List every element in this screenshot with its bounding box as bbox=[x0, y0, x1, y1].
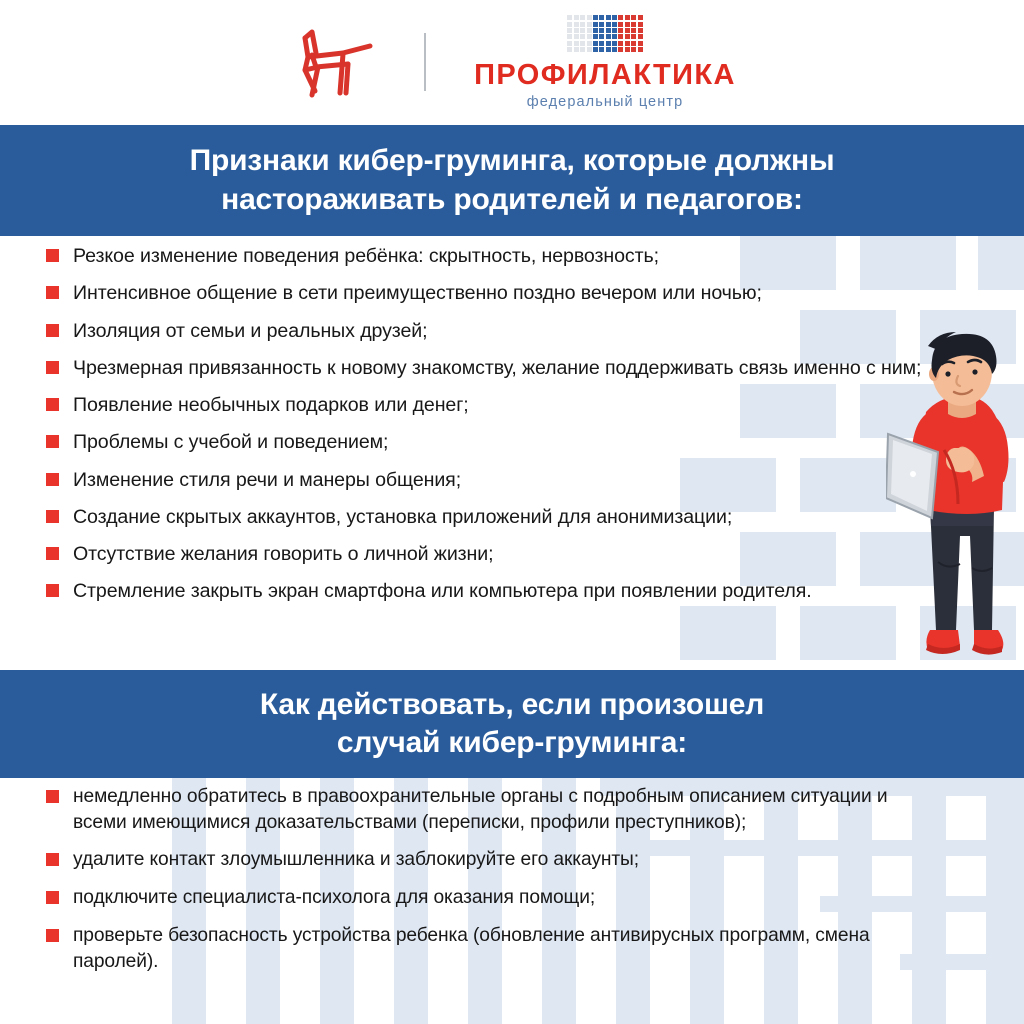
list-item-text: проверьте безопасность устройства ребенк… bbox=[73, 923, 936, 974]
list-item-text: Стремление закрыть экран смартфона или к… bbox=[73, 578, 812, 604]
bullet-square-icon bbox=[46, 929, 59, 942]
bullet-square-icon bbox=[46, 790, 59, 803]
list-item: Резкое изменение поведения ребёнка: скры… bbox=[46, 243, 926, 269]
list-item: удалите контакт злоумышленника и заблоки… bbox=[46, 847, 936, 873]
bullet-square-icon bbox=[46, 891, 59, 904]
man-with-tablet-icon bbox=[886, 330, 1024, 682]
bullet-square-icon bbox=[46, 398, 59, 411]
section2-heading-banner: Как действовать, если произошел случай к… bbox=[0, 670, 1024, 778]
header-logo-bar: ПРОФИЛАКТИКА федеральный центр bbox=[0, 0, 1024, 125]
list-item-text: Появление необычных подарков или денег; bbox=[73, 392, 469, 418]
bullet-square-icon bbox=[46, 249, 59, 262]
bullet-square-icon bbox=[46, 584, 59, 597]
bullet-square-icon bbox=[46, 853, 59, 866]
bullet-square-icon bbox=[46, 547, 59, 560]
chair-line-icon bbox=[288, 23, 380, 101]
section1-list: Резкое изменение поведения ребёнка: скры… bbox=[46, 243, 926, 616]
list-item: Отсутствие желания говорить о личной жиз… bbox=[46, 541, 926, 567]
logo-divider bbox=[424, 33, 426, 91]
list-item-text: Чрезмерная привязанность к новому знаком… bbox=[73, 355, 921, 381]
brand-subtitle: федеральный центр bbox=[527, 95, 684, 110]
list-item: Интенсивное общение в сети преимуществен… bbox=[46, 280, 926, 306]
brand-block: ПРОФИЛАКТИКА федеральный центр bbox=[474, 15, 736, 109]
list-item: Создание скрытых аккаунтов, установка пр… bbox=[46, 504, 926, 530]
list-item-text: удалите контакт злоумышленника и заблоки… bbox=[73, 847, 639, 873]
list-item: проверьте безопасность устройства ребенк… bbox=[46, 923, 936, 974]
list-item: Появление необычных подарков или денег; bbox=[46, 392, 926, 418]
list-item: Изменение стиля речи и манеры общения; bbox=[46, 467, 926, 493]
bullet-square-icon bbox=[46, 473, 59, 486]
logo-group: ПРОФИЛАКТИКА федеральный центр bbox=[288, 15, 736, 109]
bullet-square-icon bbox=[46, 435, 59, 448]
list-item-text: подключите специалиста-психолога для ока… bbox=[73, 885, 595, 911]
bullet-square-icon bbox=[46, 361, 59, 374]
man-with-tablet-illustration bbox=[886, 330, 1024, 682]
list-item-text: Проблемы с учебой и поведением; bbox=[73, 429, 388, 455]
bullet-square-icon bbox=[46, 324, 59, 337]
flag-grid-icon bbox=[567, 15, 642, 52]
list-item-text: Отсутствие желания говорить о личной жиз… bbox=[73, 541, 493, 567]
list-item: Стремление закрыть экран смартфона или к… bbox=[46, 578, 926, 604]
section1-heading-line2: настораживать родителей и педагогов: bbox=[221, 181, 803, 219]
section2-list: немедленно обратитесь в правоохранительн… bbox=[46, 784, 936, 986]
list-item-text: Изменение стиля речи и манеры общения; bbox=[73, 467, 461, 493]
bullet-square-icon bbox=[46, 286, 59, 299]
list-item: Чрезмерная привязанность к новому знаком… bbox=[46, 355, 926, 381]
brand-name: ПРОФИЛАКТИКА bbox=[474, 61, 736, 90]
list-item: немедленно обратитесь в правоохранительн… bbox=[46, 784, 936, 835]
section1-heading-line1: Признаки кибер-груминга, которые должны bbox=[190, 142, 835, 180]
list-item-text: Создание скрытых аккаунтов, установка пр… bbox=[73, 504, 732, 530]
list-item-text: Интенсивное общение в сети преимуществен… bbox=[73, 280, 762, 306]
list-item: Изоляция от семьи и реальных друзей; bbox=[46, 318, 926, 344]
infographic-poster: ПРОФИЛАКТИКА федеральный центр bbox=[0, 0, 1024, 1024]
section2-heading-line2: случай кибер-груминга: bbox=[337, 724, 687, 762]
bullet-square-icon bbox=[46, 510, 59, 523]
section1-heading-banner: Признаки кибер-груминга, которые должны … bbox=[0, 125, 1024, 236]
list-item-text: Резкое изменение поведения ребёнка: скры… bbox=[73, 243, 659, 269]
list-item: Проблемы с учебой и поведением; bbox=[46, 429, 926, 455]
list-item-text: Изоляция от семьи и реальных друзей; bbox=[73, 318, 427, 344]
section2-heading-line1: Как действовать, если произошел bbox=[260, 686, 764, 724]
list-item-text: немедленно обратитесь в правоохранительн… bbox=[73, 784, 936, 835]
list-item: подключите специалиста-психолога для ока… bbox=[46, 885, 936, 911]
